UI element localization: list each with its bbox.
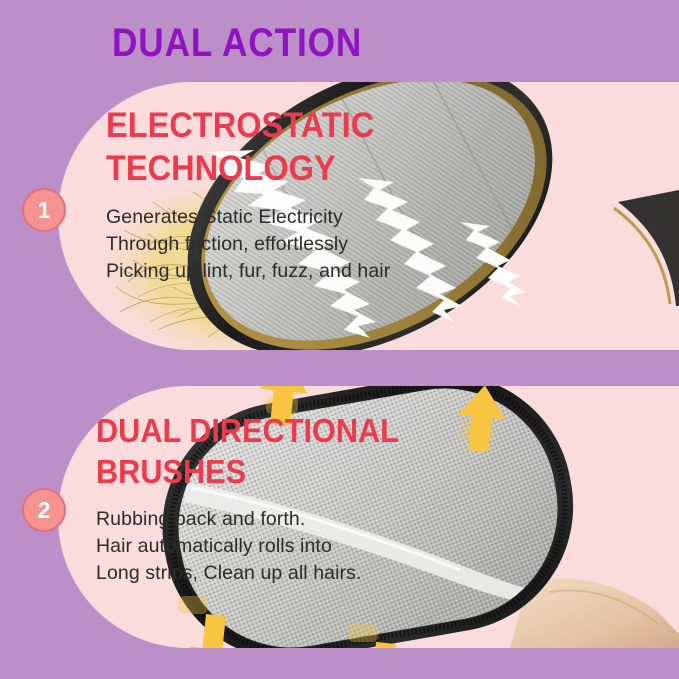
step-badge-1: 1 [22, 188, 66, 232]
feature-2-body: Rubbing back and forth. Hair automatical… [96, 506, 422, 587]
feature-2-text-block: DUAL DIRECTIONAL BRUSHES Rubbing back an… [96, 410, 422, 587]
step-badge-2: 2 [22, 488, 66, 532]
feature-1-text-block: ELECTROSTATIC TECHNOLOGY Generates Stati… [106, 104, 394, 285]
feature-2-heading: DUAL DIRECTIONAL BRUSHES [96, 410, 399, 492]
feature-1-heading: ELECTROSTATIC TECHNOLOGY [106, 104, 374, 190]
infographic-stage: DUAL ACTION [0, 0, 679, 679]
page-title: DUAL ACTION [112, 20, 362, 66]
feature-1-body: Generates Static Electricity Through fri… [106, 204, 394, 285]
feature-card-electrostatic: ELECTROSTATIC TECHNOLOGY Generates Stati… [58, 82, 679, 350]
feature-card-dual-directional: DUAL DIRECTIONAL BRUSHES Rubbing back an… [58, 386, 679, 648]
